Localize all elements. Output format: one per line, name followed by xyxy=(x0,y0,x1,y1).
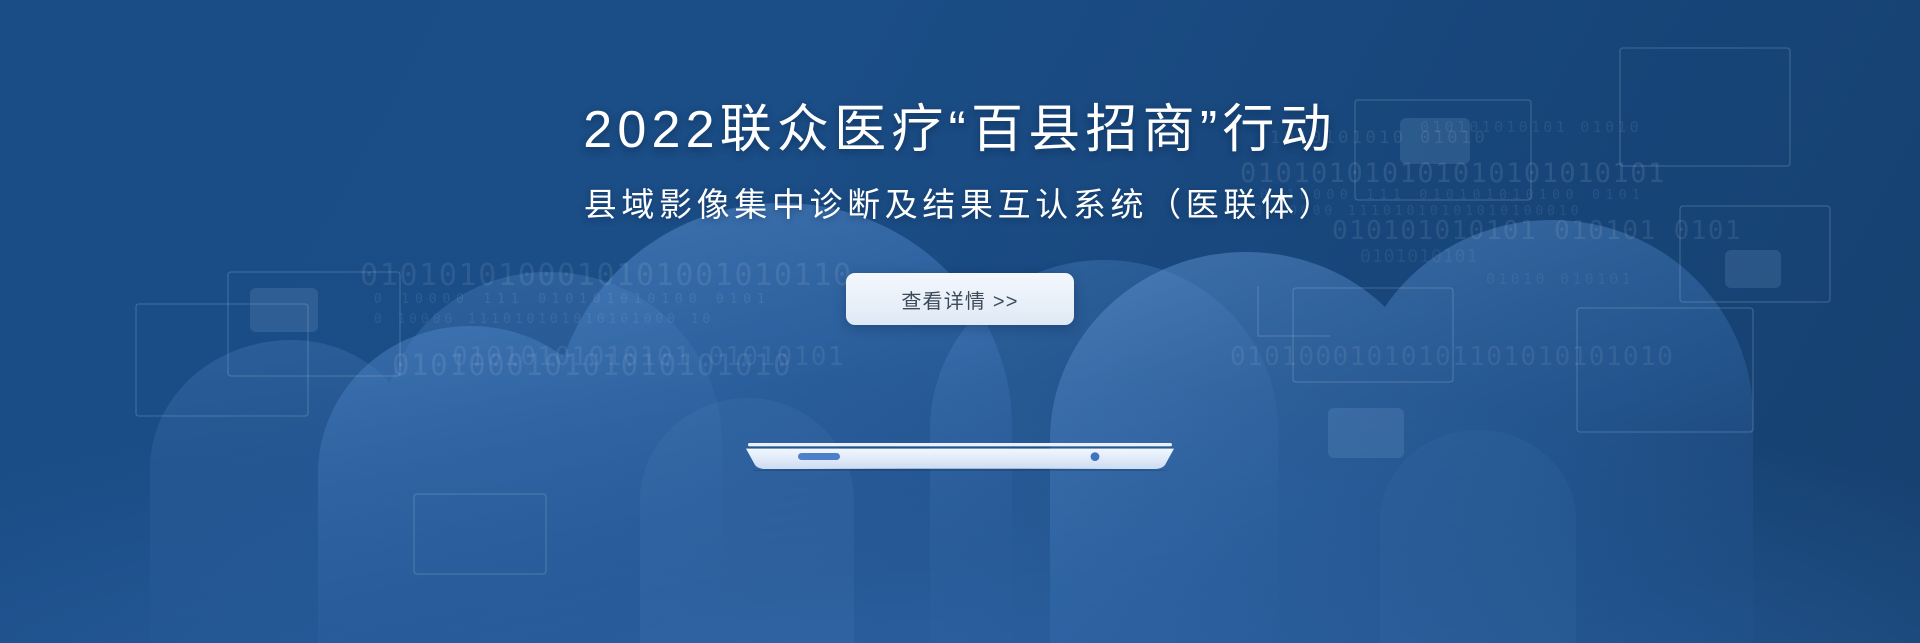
promo-banner: 0101010100010101001010110 0 10000 111 01… xyxy=(0,0,1920,643)
page-subtitle: 县域影像集中诊断及结果互认系统（医联体） xyxy=(584,188,1336,221)
view-details-button[interactable]: 查看详情 >> xyxy=(846,273,1074,325)
laptop-indicator-dot xyxy=(1091,452,1100,461)
laptop-base xyxy=(746,443,1174,471)
page-title: 2022联众医疗“百县招商”行动 xyxy=(583,104,1337,156)
laptop-hinge xyxy=(748,443,1172,446)
banner-content: 2022联众医疗“百县招商”行动 县域影像集中诊断及结果互认系统（医联体） 查看… xyxy=(0,0,1920,643)
laptop-touchpad-bar xyxy=(798,453,840,460)
laptop-hinge-shadow xyxy=(748,446,1172,448)
